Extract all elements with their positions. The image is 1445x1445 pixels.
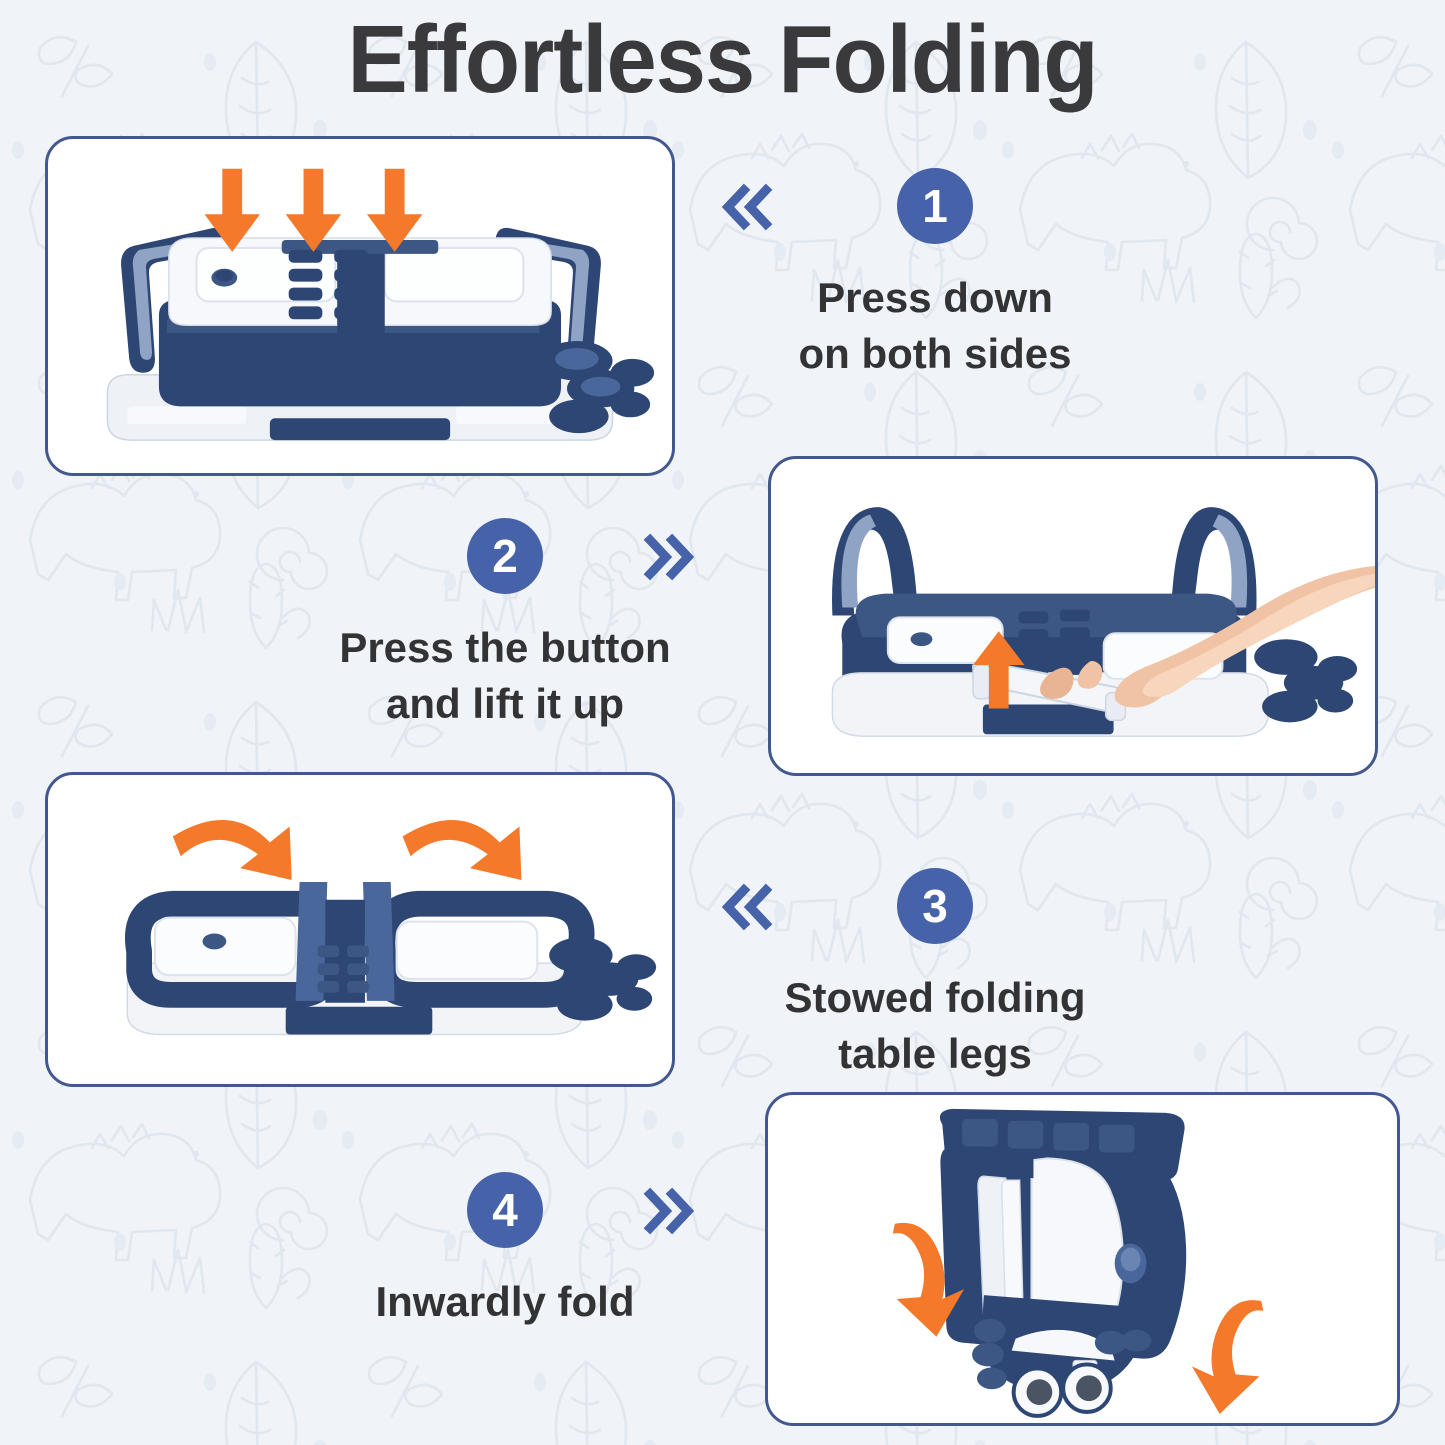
product-image-panel-step-3	[45, 772, 675, 1087]
product-illustration-legs-stowed	[48, 775, 672, 1087]
orange-down-arrows	[204, 169, 422, 252]
page-title: Effortless Folding	[43, 8, 1401, 112]
product-image-panel-step-1	[45, 136, 675, 476]
step-block-2: 2 Press the button and lift it up	[270, 518, 740, 732]
step-caption-2: Press the button and lift it up	[270, 620, 740, 732]
step-badge-4: 4	[467, 1172, 543, 1248]
product-image-panel-step-4	[765, 1092, 1400, 1426]
step-caption-4: Inwardly fold	[270, 1274, 740, 1330]
product-illustration-folded-dino	[768, 1095, 1397, 1426]
step-caption-3: Stowed folding table legs	[700, 970, 1170, 1082]
step-caption-1: Press down on both sides	[700, 270, 1170, 382]
step-badge-1: 1	[897, 168, 973, 244]
step-badge-2: 2	[467, 518, 543, 594]
step-block-3: 3 Stowed folding table legs	[700, 868, 1170, 1082]
product-illustration-upright	[48, 139, 672, 476]
orange-curved-arrows	[173, 820, 522, 880]
product-image-panel-step-2	[768, 456, 1378, 776]
product-illustration-flattened-with-hand	[771, 459, 1375, 776]
step-block-1: 1 Press down on both sides	[700, 168, 1170, 382]
step-block-4: 4 Inwardly fold	[270, 1172, 740, 1330]
step-badge-3: 3	[897, 868, 973, 944]
